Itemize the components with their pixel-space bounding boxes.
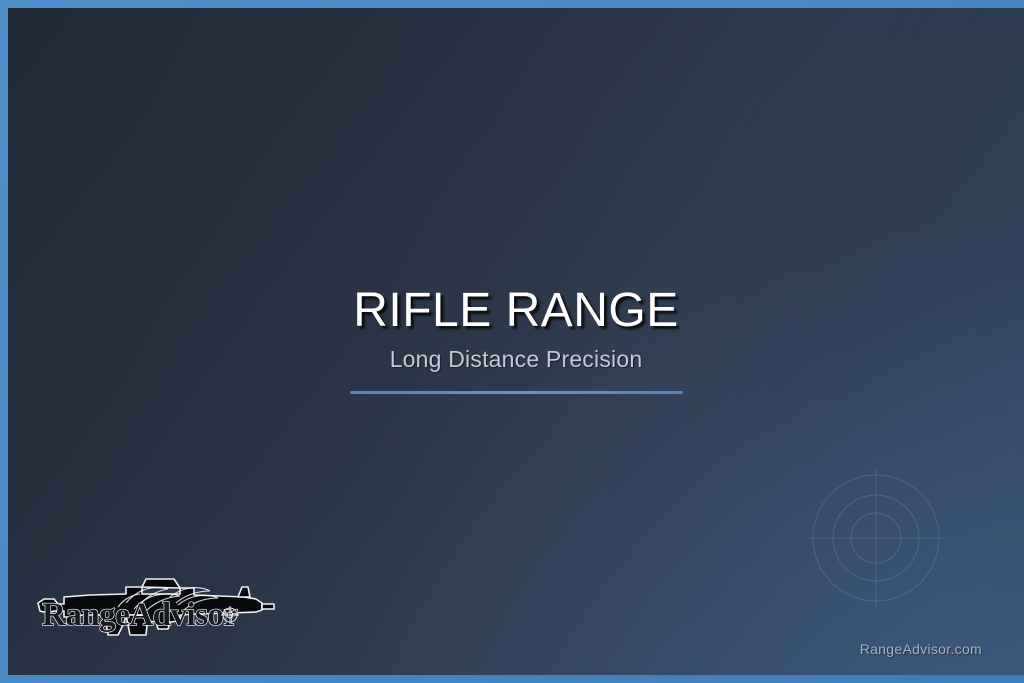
- crosshair-target-icon: [806, 468, 946, 608]
- title-block: RIFLE RANGE Long Distance Precision: [8, 286, 1024, 394]
- accent-divider: [350, 391, 683, 394]
- page-title: RIFLE RANGE: [8, 286, 1024, 336]
- slide-canvas: RIFLE RANGE Long Distance Precision: [8, 8, 1024, 675]
- brand-logo: RangeAdvisor: [30, 573, 280, 653]
- page-subtitle: Long Distance Precision: [8, 346, 1024, 373]
- footer-website-label: RangeAdvisor.com: [860, 641, 982, 657]
- brand-wordmark: RangeAdvisor: [42, 597, 238, 633]
- slide-frame: RIFLE RANGE Long Distance Precision: [0, 0, 1024, 683]
